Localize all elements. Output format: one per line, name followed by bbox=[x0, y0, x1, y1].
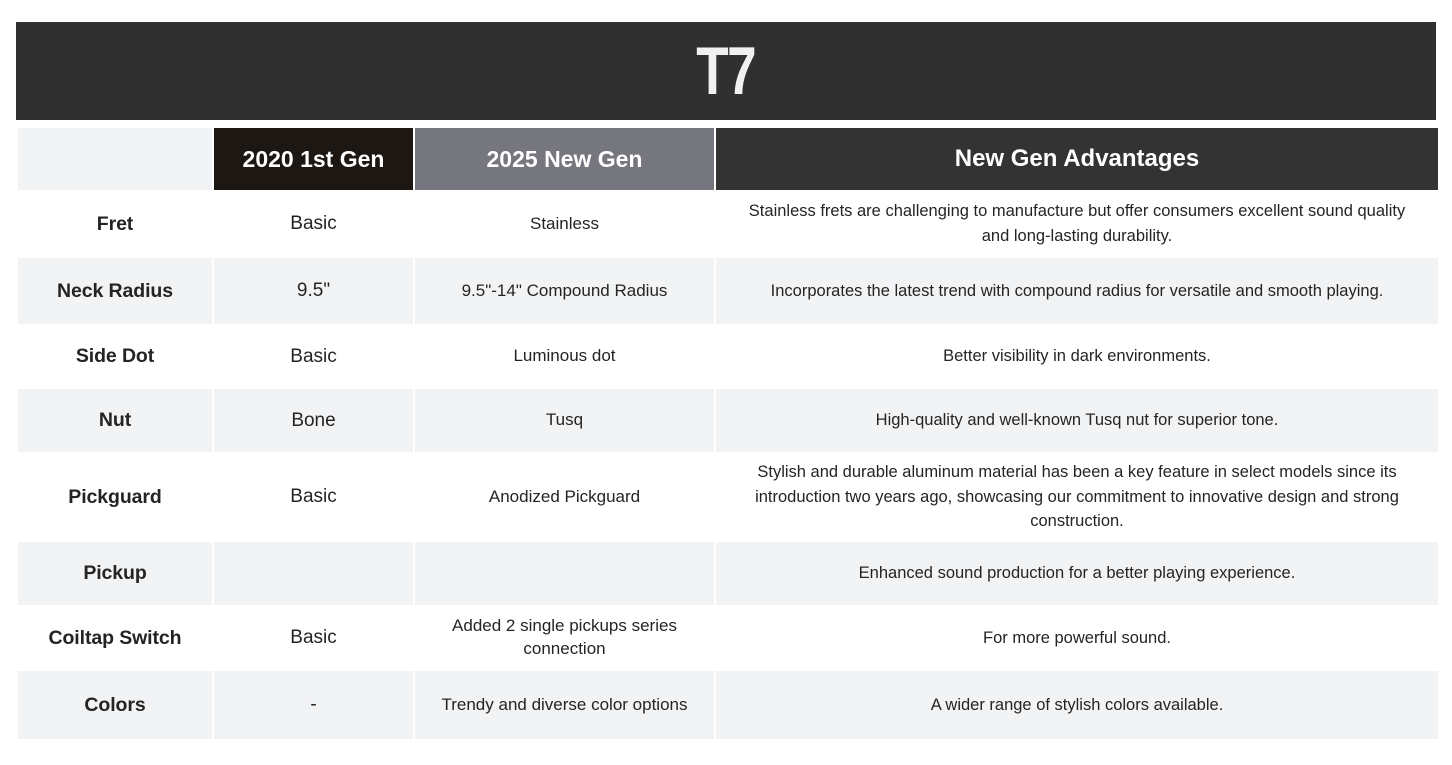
cell-advantage: For more powerful sound. bbox=[716, 606, 1438, 670]
cell-feature: Neck Radius bbox=[18, 258, 212, 324]
table-header: 2020 1st Gen 2025 New Gen New Gen Advant… bbox=[18, 128, 1438, 190]
cell-advantage: Stylish and durable aluminum material ha… bbox=[716, 453, 1438, 541]
cell-old-gen: Basic bbox=[214, 325, 413, 388]
cell-old-gen: 9.5" bbox=[214, 258, 413, 324]
cell-feature: Side Dot bbox=[18, 325, 212, 388]
table-row: Pickguard Basic Anodized Pickguard Styli… bbox=[18, 453, 1438, 541]
cell-new-gen: Trendy and diverse color options bbox=[415, 671, 714, 739]
cell-feature: Colors bbox=[18, 671, 212, 739]
header-row: 2020 1st Gen 2025 New Gen New Gen Advant… bbox=[18, 128, 1438, 190]
cell-feature: Nut bbox=[18, 389, 212, 452]
cell-new-gen: Anodized Pickguard bbox=[415, 453, 714, 541]
cell-feature: Pickguard bbox=[18, 453, 212, 541]
comparison-table: 2020 1st Gen 2025 New Gen New Gen Advant… bbox=[16, 127, 1440, 740]
cell-old-gen: Basic bbox=[214, 606, 413, 670]
cell-old-gen bbox=[214, 542, 413, 605]
comparison-page: T7 2020 1st Gen 2025 New Gen New Gen Adv… bbox=[0, 0, 1452, 765]
cell-feature: Pickup bbox=[18, 542, 212, 605]
table-body: Fret Basic Stainless Stainless frets are… bbox=[18, 191, 1438, 739]
cell-advantage: Incorporates the latest trend with compo… bbox=[716, 258, 1438, 324]
cell-new-gen: Added 2 single pickups series connection bbox=[415, 606, 714, 670]
cell-feature: Coiltap Switch bbox=[18, 606, 212, 670]
cell-advantage: A wider range of stylish colors availabl… bbox=[716, 671, 1438, 739]
table-row: Colors - Trendy and diverse color option… bbox=[18, 671, 1438, 739]
cell-old-gen: Bone bbox=[214, 389, 413, 452]
cell-advantage: High-quality and well-known Tusq nut for… bbox=[716, 389, 1438, 452]
cell-new-gen: Luminous dot bbox=[415, 325, 714, 388]
table-row: Nut Bone Tusq High-quality and well-know… bbox=[18, 389, 1438, 452]
column-header-old-gen: 2020 1st Gen bbox=[214, 128, 413, 190]
cell-new-gen: Tusq bbox=[415, 389, 714, 452]
table-row: Pickup Enhanced sound production for a b… bbox=[18, 542, 1438, 605]
cell-old-gen: - bbox=[214, 671, 413, 739]
cell-new-gen bbox=[415, 542, 714, 605]
cell-advantage: Better visibility in dark environments. bbox=[716, 325, 1438, 388]
table-row: Fret Basic Stainless Stainless frets are… bbox=[18, 191, 1438, 257]
title-banner: T7 bbox=[16, 22, 1436, 120]
column-header-advantages: New Gen Advantages bbox=[716, 128, 1438, 190]
table-row: Coiltap Switch Basic Added 2 single pick… bbox=[18, 606, 1438, 670]
cell-new-gen: Stainless bbox=[415, 191, 714, 257]
column-header-new-gen: 2025 New Gen bbox=[415, 128, 714, 190]
cell-feature: Fret bbox=[18, 191, 212, 257]
page-title: T7 bbox=[697, 37, 756, 105]
table-row: Side Dot Basic Luminous dot Better visib… bbox=[18, 325, 1438, 388]
cell-advantage: Stainless frets are challenging to manuf… bbox=[716, 191, 1438, 257]
cell-new-gen: 9.5"-14" Compound Radius bbox=[415, 258, 714, 324]
cell-advantage: Enhanced sound production for a better p… bbox=[716, 542, 1438, 605]
table-row: Neck Radius 9.5" 9.5"-14" Compound Radiu… bbox=[18, 258, 1438, 324]
cell-old-gen: Basic bbox=[214, 453, 413, 541]
column-header-feature bbox=[18, 128, 212, 190]
cell-old-gen: Basic bbox=[214, 191, 413, 257]
